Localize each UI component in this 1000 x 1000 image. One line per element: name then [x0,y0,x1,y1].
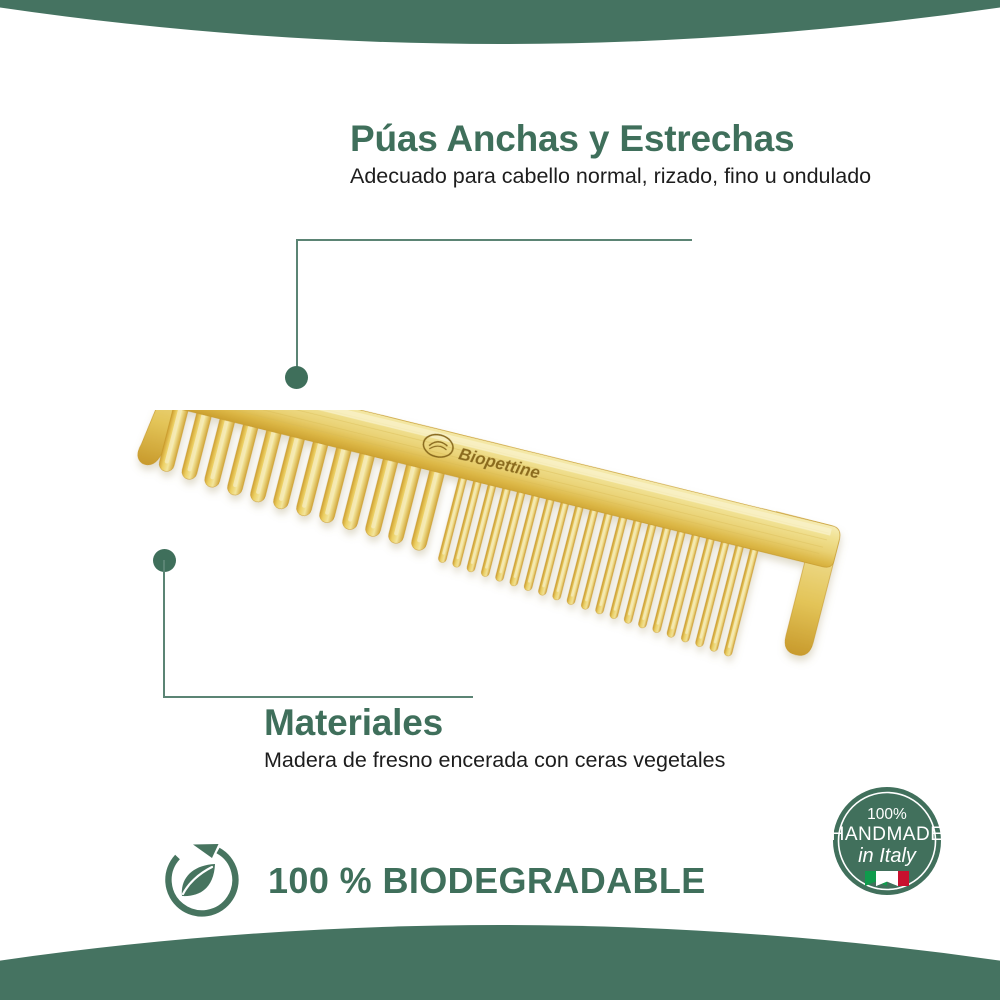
feature-description-materials: Madera de fresno encerada con ceras vege… [264,747,884,774]
feature-block-teeth: Púas Anchas y Estrechas Adecuado para ca… [350,118,910,191]
badge-line-in-italy: in Italy [858,845,917,867]
handmade-in-italy-badge: 100% HANDMADE in Italy [832,786,942,896]
leaf-recycle-icon [160,838,246,924]
callout-line-materials-horizontal [163,696,473,698]
callout-line-teeth-vertical [296,239,298,379]
feature-description-teeth: Adecuado para cabello normal, rizado, fi… [350,163,910,190]
callout-line-teeth-horizontal [296,239,692,241]
feature-title-teeth: Púas Anchas y Estrechas [350,118,910,159]
feature-title-materials: Materiales [264,702,884,743]
biodegradable-row: 100 % BIODEGRADABLE [160,838,706,924]
badge-line-handmade: HANDMADE [832,824,942,845]
comb-photo: Biopettine [130,410,860,690]
infographic-canvas: Púas Anchas y Estrechas Adecuado para ca… [0,0,1000,1000]
badge-line-100: 100% [867,806,907,823]
callout-dot-teeth [285,366,308,389]
biodegradable-label: 100 % BIODEGRADABLE [268,860,706,902]
top-arc-decoration [0,0,1000,90]
feature-block-materials: Materiales Madera de fresno encerada con… [264,702,884,775]
